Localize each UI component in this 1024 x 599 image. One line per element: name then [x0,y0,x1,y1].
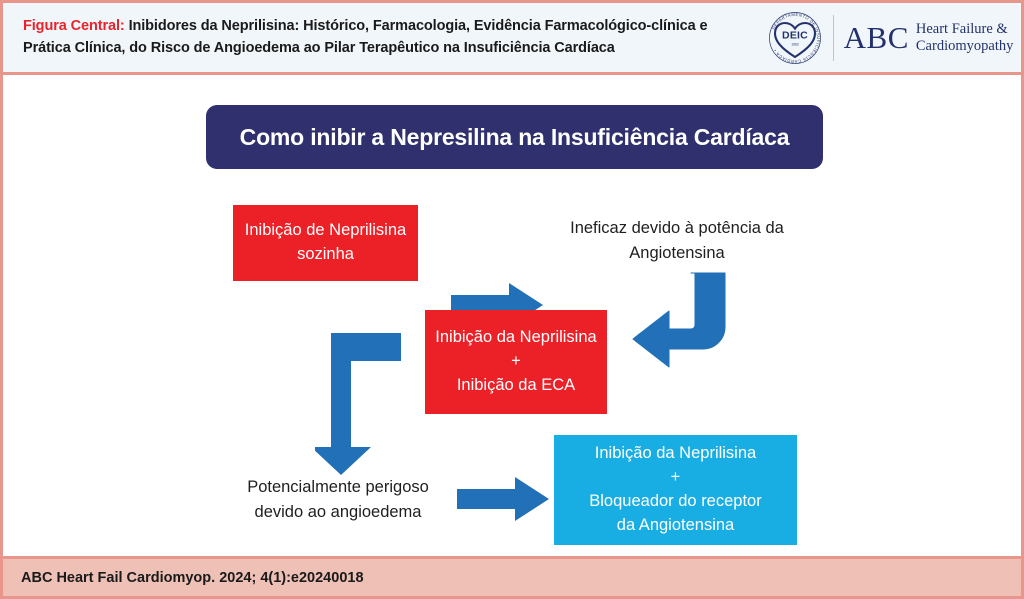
diagram-banner: Como inibir a Nepresilina na Insuficiênc… [206,105,823,169]
logo-divider [833,15,834,61]
node-neprilisina-alone: Inibição de Neprilisina sozinha [233,205,418,281]
node-neprilisina-arb: Inibição da Neprilisina + Bloqueador do … [554,435,797,545]
arrow-elbow-down-left-icon [629,271,739,371]
figure-caption: Figura Central: Inibidores da Neprilisin… [3,16,759,58]
node-perigoso-text: Potencialmente perigoso devido ao angioe… [218,475,458,525]
arrow-right-bottom-icon [455,473,551,525]
figure-footer: ABC Heart Fail Cardiomyop. 2024; 4(1):e2… [3,556,1021,596]
node-neprilisina-arb-line1: Inibição da Neprilisina [595,442,756,466]
abc-wordmark: ABC [844,22,909,53]
figure-caption-label: Figura Central: [23,18,125,34]
node-neprilisina-eca: Inibição da Neprilisina + Inibição da EC… [425,310,607,414]
node-ineficaz-line2: Angiotensina [537,241,817,266]
deic-seal-icon: DEPARTAMENTO DE INSUFICIÊNCIA CARDÍACA •… [767,10,823,66]
node-neprilisina-arb-line2: + [671,466,681,490]
svg-text:1962: 1962 [791,42,799,46]
diagram-banner-title: Como inibir a Nepresilina na Insuficiênc… [240,124,790,151]
svg-text:DEIC: DEIC [782,29,808,41]
abc-journal-name-line1: Heart Failure & [916,21,1013,38]
journal-logo: DEPARTAMENTO DE INSUFICIÊNCIA CARDÍACA •… [759,2,1021,74]
figure-page: Figura Central: Inibidores da Neprilisin… [0,0,1024,599]
diagram-canvas: Como inibir a Nepresilina na Insuficiênc… [3,75,1021,562]
node-neprilisina-eca-line1: Inibição da Neprilisina [435,326,596,350]
node-neprilisina-eca-line2: + [511,350,521,374]
abc-journal-name-line2: Cardiomyopathy [916,38,1013,55]
journal-citation: ABC Heart Fail Cardiomyop. 2024; 4(1):e2… [3,570,364,586]
node-ineficaz-line1: Ineficaz devido à potência da [537,216,817,241]
node-perigoso-line2: devido ao angioedema [218,500,458,525]
abc-journal-name: Heart Failure & Cardiomyopathy [916,21,1013,54]
abc-brand-lockup: ABC Heart Failure & Cardiomyopathy [844,21,1014,54]
node-perigoso-line1: Potencialmente perigoso [218,475,458,500]
figure-header: Figura Central: Inibidores da Neprilisin… [3,3,1021,75]
arrow-elbow-right-down-icon [315,331,403,477]
figure-caption-text: Inibidores da Neprilisina: Histórico, Fa… [23,18,707,55]
node-neprilisina-alone-line2: sozinha [297,243,354,267]
node-ineficaz-text: Ineficaz devido à potência da Angiotensi… [537,216,817,266]
node-neprilisina-alone-line1: Inibição de Neprilisina [245,219,406,243]
node-neprilisina-eca-line3: Inibição da ECA [457,374,575,398]
node-neprilisina-arb-line3: Bloqueador do receptor [589,490,761,514]
node-neprilisina-arb-line4: da Angiotensina [617,514,734,538]
